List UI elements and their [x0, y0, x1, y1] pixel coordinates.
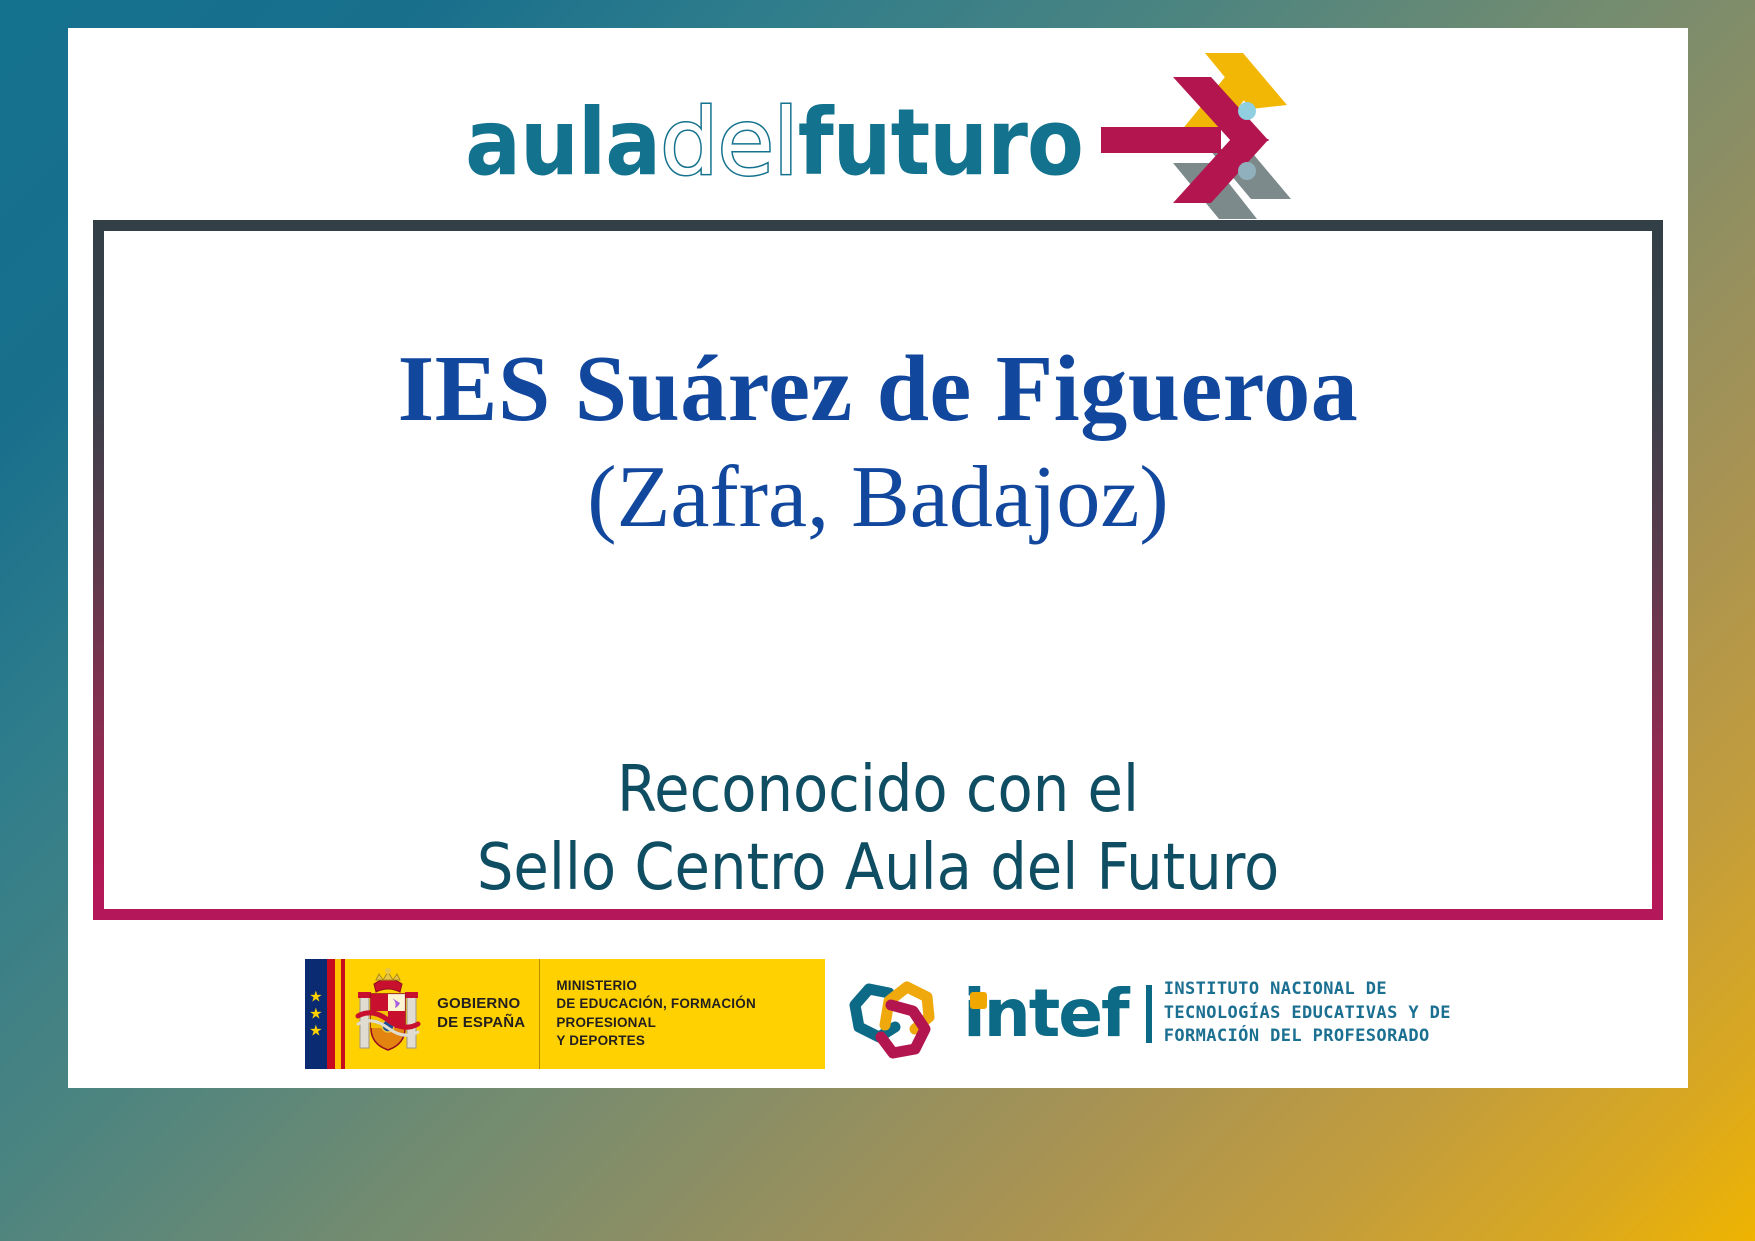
ministerio-line-3: Y DEPORTES [556, 1032, 825, 1050]
recognition-line-2: Sello Centro Aula del Futuro [104, 829, 1652, 907]
recognition-line-1: Reconocido con el [104, 751, 1652, 829]
ministerio-text: MINISTERIO DE EDUCACIÓN, FORMACIÓN PROFE… [540, 959, 825, 1069]
footer-logo-row: ★★★ [68, 951, 1688, 1076]
aula-del-futuro-logo: auladel futuro [68, 58, 1688, 228]
gobierno-de-espana-logo: ★★★ [305, 959, 825, 1069]
intef-tagline-line-1: INSTITUTO NACIONAL DE [1164, 978, 1451, 1001]
spain-eu-flag-icon: ★★★ [305, 959, 345, 1069]
intef-tagline-line-3: FORMACIÓN DEL PROFESORADO [1164, 1025, 1451, 1048]
intef-tagline-line-2: TECNOLOGÍAS EDUCATIVAS Y DE [1164, 1002, 1451, 1025]
intef-wordmark-text: intef [963, 975, 1128, 1052]
intef-logo: intef INSTITUTO NACIONAL DE TECNOLOGÍAS … [845, 959, 1451, 1069]
certificate-root: auladel futuro [0, 0, 1755, 1241]
wordmark-futuro: futuro [798, 97, 1083, 189]
recognition-text: Reconocido con el Sello Centro Aula del … [104, 751, 1652, 907]
gobierno-de-espana-text: GOBIERNO DE ESPAÑA [431, 959, 540, 1069]
intef-interlocking-hexagons-icon [845, 959, 949, 1068]
intef-divider [1146, 985, 1152, 1043]
wordmark-aula: aula [465, 97, 660, 189]
intef-i-dot-icon [970, 992, 987, 1009]
school-location: (Zafra, Badajoz) [104, 443, 1652, 553]
spain-coat-of-arms-icon [345, 959, 431, 1069]
gobierno-line-2: DE ESPAÑA [437, 1014, 525, 1032]
intef-wordmark: intef [963, 981, 1128, 1047]
gobierno-line-1: GOBIERNO [437, 995, 525, 1013]
intef-tagline: INSTITUTO NACIONAL DE TECNOLOGÍAS EDUCAT… [1164, 978, 1451, 1048]
eu-stars-icon: ★★★ [309, 988, 322, 1039]
school-name: IES Suárez de Figueroa [104, 341, 1652, 439]
award-frame: IES Suárez de Figueroa (Zafra, Badajoz) … [93, 220, 1663, 920]
award-heading: IES Suárez de Figueroa (Zafra, Badajoz) [104, 341, 1652, 553]
ministerio-line-2: DE EDUCACIÓN, FORMACIÓN PROFESIONAL [556, 995, 825, 1031]
ministerio-line-1: MINISTERIO [556, 977, 825, 995]
triple-chevron-arrow-icon [1101, 53, 1291, 233]
certificate-card: auladel futuro [68, 28, 1688, 1088]
aula-del-futuro-wordmark: auladel futuro [465, 97, 1083, 189]
wordmark-del: del [660, 97, 798, 189]
